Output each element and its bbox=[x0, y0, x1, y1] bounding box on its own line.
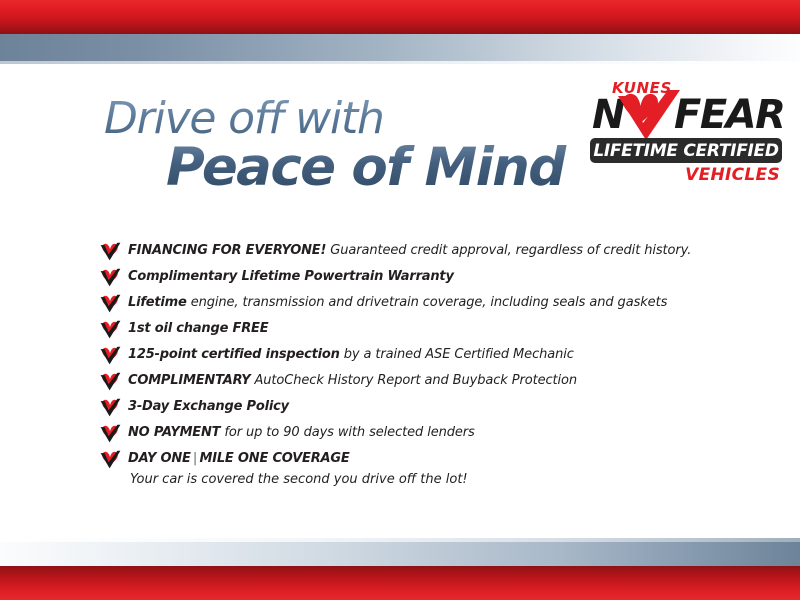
list-item-text: 125-point certified inspection by a trai… bbox=[128, 344, 740, 366]
heart-check-icon bbox=[100, 242, 121, 261]
list-item-text: COMPLIMENTARY AutoCheck History Report a… bbox=[128, 370, 740, 392]
heart-check-icon bbox=[100, 320, 121, 339]
benefit-bold: COMPLIMENTARY bbox=[128, 373, 250, 388]
list-item: Lifetime engine, transmission and drivet… bbox=[100, 292, 740, 318]
list-item-text: Complimentary Lifetime Powertrain Warran… bbox=[128, 266, 740, 288]
logo-word-vehicles: VEHICLES bbox=[685, 166, 780, 184]
benefits-list: FINANCING FOR EVERYONE! Guaranteed credi… bbox=[100, 240, 740, 494]
list-item-text: 3-Day Exchange Policy bbox=[128, 396, 740, 418]
heart-check-icon bbox=[100, 294, 121, 313]
promo-flyer: Drive off with Peace of Mind KUNES N FEA… bbox=[0, 0, 800, 600]
benefit-bold: 1st oil change FREE bbox=[128, 321, 268, 336]
heart-check-icon bbox=[100, 450, 121, 469]
heart-check-icon bbox=[100, 398, 121, 417]
benefit-bold: DAY ONE bbox=[128, 451, 191, 466]
benefit-bold: 125-point certified inspection bbox=[128, 347, 340, 362]
benefit-normal: by a trained ASE Certified Mechanic bbox=[340, 347, 574, 362]
benefit-bold: Lifetime bbox=[128, 295, 187, 310]
bottom-red-band bbox=[0, 566, 800, 600]
benefit-normal: Guaranteed credit approval, regardless o… bbox=[326, 243, 691, 258]
list-item: Complimentary Lifetime Powertrain Warran… bbox=[100, 266, 740, 292]
list-item: 3-Day Exchange Policy bbox=[100, 396, 740, 422]
top-gray-band bbox=[0, 34, 800, 64]
list-item-text: NO PAYMENT for up to 90 days with select… bbox=[128, 422, 740, 444]
benefit-normal: engine, transmission and drivetrain cove… bbox=[187, 295, 668, 310]
kunes-no-fear-logo: KUNES N FEAR LIFETIME CERTIFIED VEHICLES bbox=[590, 80, 782, 192]
list-item-text: FINANCING FOR EVERYONE! Guaranteed credi… bbox=[128, 240, 740, 262]
heart-check-icon bbox=[100, 372, 121, 391]
list-item: 1st oil change FREE bbox=[100, 318, 740, 344]
red-check-heart-icon bbox=[616, 90, 682, 142]
top-red-band bbox=[0, 0, 800, 34]
list-item-subtext: Your car is covered the second you drive… bbox=[128, 470, 740, 490]
benefit-normal: for up to 90 days with selected lenders bbox=[220, 425, 474, 440]
list-item-text: Lifetime engine, transmission and drivet… bbox=[128, 292, 740, 314]
headline-block: Drive off with Peace of Mind bbox=[104, 96, 574, 196]
logo-certified-bar: LIFETIME CERTIFIED bbox=[590, 138, 782, 163]
heart-check-icon bbox=[100, 268, 121, 287]
list-item: COMPLIMENTARY AutoCheck History Report a… bbox=[100, 370, 740, 396]
heart-check-icon bbox=[100, 424, 121, 443]
benefit-bold: FINANCING FOR EVERYONE! bbox=[128, 243, 326, 258]
logo-certified-text: LIFETIME CERTIFIED bbox=[593, 141, 778, 161]
bottom-gray-band bbox=[0, 538, 800, 566]
heart-check-icon bbox=[100, 346, 121, 365]
logo-no-fear-wordmark: N FEAR bbox=[590, 94, 782, 138]
list-item-text: DAY ONE|MILE ONE COVERAGE bbox=[128, 448, 740, 470]
benefit-bold: Complimentary Lifetime Powertrain Warran… bbox=[128, 269, 454, 284]
headline-line-2: Peace of Mind bbox=[166, 140, 574, 196]
benefit-normal: AutoCheck History Report and Buyback Pro… bbox=[250, 373, 577, 388]
list-item: 125-point certified inspection by a trai… bbox=[100, 344, 740, 370]
benefit-bold: NO PAYMENT bbox=[128, 425, 220, 440]
benefit-bold: 3-Day Exchange Policy bbox=[128, 399, 289, 414]
headline-line-1: Drive off with bbox=[104, 96, 574, 142]
list-item: FINANCING FOR EVERYONE! Guaranteed credi… bbox=[100, 240, 740, 266]
list-item: NO PAYMENT for up to 90 days with select… bbox=[100, 422, 740, 448]
benefit-bold-2: MILE ONE COVERAGE bbox=[199, 451, 349, 466]
list-item-text: 1st oil change FREE bbox=[128, 318, 740, 340]
logo-word-fear: FEAR bbox=[674, 94, 784, 136]
list-item: DAY ONE|MILE ONE COVERAGE Your car is co… bbox=[100, 448, 740, 494]
